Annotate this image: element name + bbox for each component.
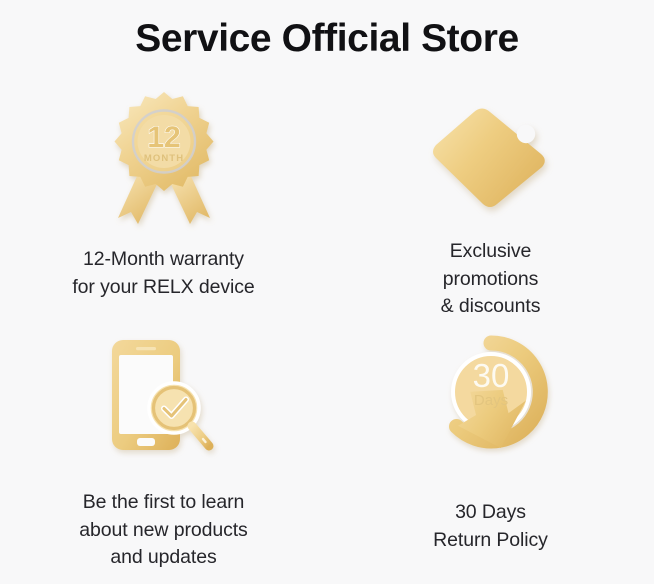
feature-item-promotions[interactable]: Exclusive promotions & discounts xyxy=(327,86,654,329)
feature-caption-warranty: 12-Month warranty for your RELX device xyxy=(72,246,254,301)
feature-item-new-products[interactable]: Be the first to learn about new products… xyxy=(0,329,327,572)
price-tag-icon xyxy=(429,88,553,228)
feature-item-returns[interactable]: 30 Days 30 Days Return Policy xyxy=(327,329,654,572)
phone-search-check-icon xyxy=(104,331,224,465)
page-title: Service Official Store xyxy=(0,16,654,62)
badge-secondary-text: MONTH xyxy=(143,153,183,164)
feature-grid: 12 MONTH 12-Month warranty for your RELX… xyxy=(0,86,654,572)
feature-item-warranty[interactable]: 12 MONTH 12-Month warranty for your RELX… xyxy=(0,86,327,329)
badge-primary-text: 12 xyxy=(147,121,180,154)
feature-caption-promotions: Exclusive promotions & discounts xyxy=(441,238,541,321)
feature-caption-new-products: Be the first to learn about new products… xyxy=(79,489,247,572)
feature-caption-returns: 30 Days Return Policy xyxy=(433,499,548,554)
service-official-store-banner: Service Official Store xyxy=(0,0,654,584)
return-secondary-text: Days xyxy=(473,392,507,409)
return-arrow-icon: 30 Days xyxy=(432,331,550,469)
award-ribbon-icon: 12 MONTH xyxy=(98,88,230,228)
return-primary-text: 30 xyxy=(472,357,509,394)
